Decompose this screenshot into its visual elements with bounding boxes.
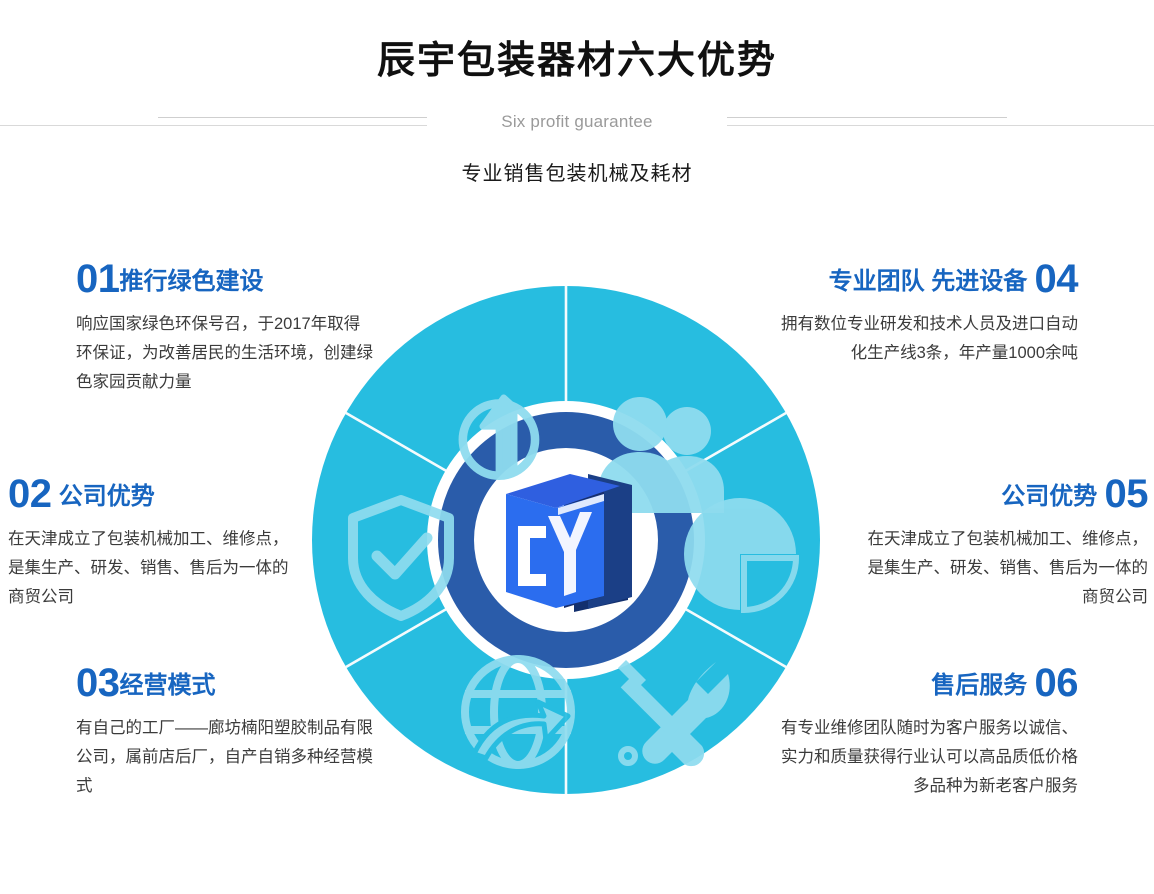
feature-body-02: 在天津成立了包装机械加工、维修点，是集生产、研发、销售、售后为一体的商贸公司 — [8, 525, 300, 612]
feature-heading-02: 02 公司优势 — [8, 477, 300, 514]
feature-item-01: 01推行绿色建设 响应国家绿色环保号召，于2017年取得环保证，为改善居民的生活… — [76, 262, 376, 397]
feature-item-04: 专业团队 先进设备 04 拥有数位专业研发和技术人员及进口自动化生产线3条，年产… — [778, 262, 1078, 368]
feature-item-05: 公司优势 05 在天津成立了包装机械加工、维修点，是集生产、研发、销售、售后为一… — [856, 477, 1148, 612]
feature-body-05: 在天津成立了包装机械加工、维修点，是集生产、研发、销售、售后为一体的商贸公司 — [856, 525, 1148, 612]
subtitle-english: Six profit guarantee — [427, 108, 727, 137]
subtitle-chinese: 专业销售包装机械及耗材 — [0, 157, 1154, 186]
divider-rule-right — [687, 117, 1007, 118]
feature-number-04: 04 — [1035, 257, 1079, 301]
feature-number-05: 05 — [1105, 472, 1149, 516]
feature-label-01: 推行绿色建设 — [120, 268, 264, 295]
feature-label-06: 售后服务 — [931, 672, 1027, 699]
feature-heading-06: 售后服务 06 — [766, 666, 1078, 703]
feature-number-03: 03 — [76, 661, 120, 705]
feature-item-03: 03经营模式 有自己的工厂——廊坊楠阳塑胶制品有限公司，属前店后厂，自产自销多种… — [76, 666, 388, 801]
feature-heading-03: 03经营模式 — [76, 666, 388, 703]
page-title: 辰宇包装器材六大优势 — [0, 36, 1154, 86]
feature-label-02: 公司优势 — [59, 483, 155, 510]
feature-body-03: 有自己的工厂——廊坊楠阳塑胶制品有限公司，属前店后厂，自产自销多种经营模式 — [76, 714, 388, 801]
feature-label-03: 经营模式 — [120, 672, 216, 699]
feature-number-06: 06 — [1035, 661, 1079, 705]
feature-heading-05: 公司优势 05 — [856, 477, 1148, 514]
feature-body-06: 有专业维修团队随时为客户服务以诚信、实力和质量获得行业认可以高品质低价格多品种为… — [766, 714, 1078, 801]
page-header: 辰宇包装器材六大优势 Six profit guarantee 专业销售包装机械… — [0, 0, 1154, 210]
feature-item-02: 02 公司优势 在天津成立了包装机械加工、维修点，是集生产、研发、销售、售后为一… — [8, 477, 300, 612]
feature-label-04: 专业团队 先进设备 — [829, 268, 1028, 295]
six-advantage-wheel — [312, 286, 820, 794]
feature-number-01: 01 — [76, 257, 120, 301]
feature-label-05: 公司优势 — [1001, 483, 1097, 510]
feature-number-02: 02 — [8, 472, 52, 516]
cy-box-logo — [506, 474, 632, 612]
feature-item-06: 售后服务 06 有专业维修团队随时为客户服务以诚信、实力和质量获得行业认可以高品… — [766, 666, 1078, 801]
feature-body-04: 拥有数位专业研发和技术人员及进口自动化生产线3条，年产量1000余吨 — [778, 310, 1078, 368]
feature-heading-04: 专业团队 先进设备 04 — [778, 262, 1078, 299]
feature-heading-01: 01推行绿色建设 — [76, 262, 376, 299]
feature-body-01: 响应国家绿色环保号召，于2017年取得环保证，为改善居民的生活环境，创建绿色家园… — [76, 310, 376, 397]
